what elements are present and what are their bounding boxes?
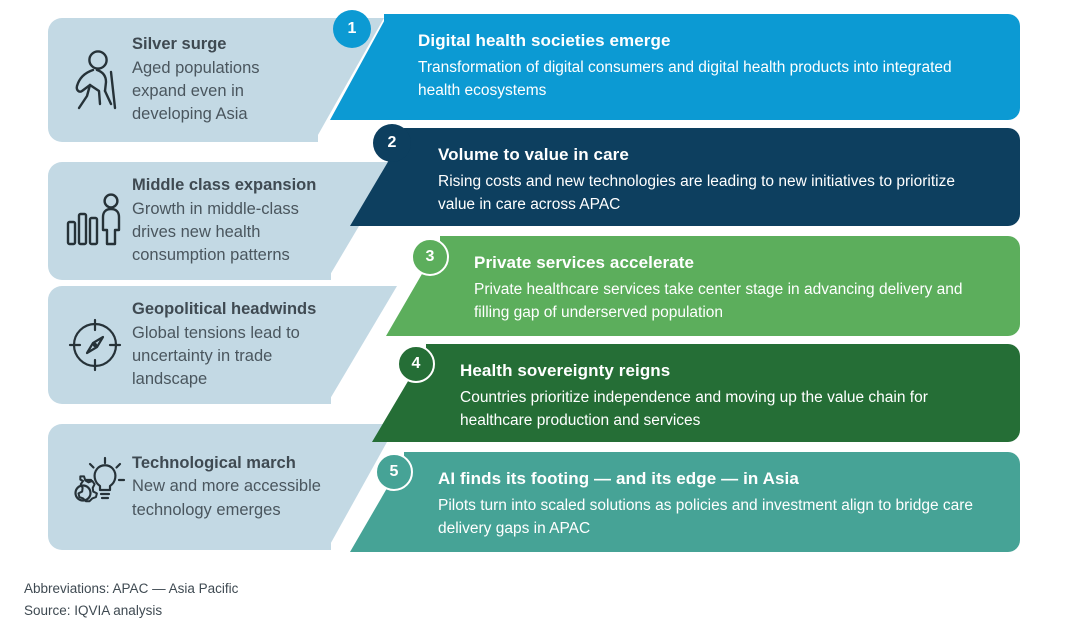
driver-text-block: Middle class expansion Growth in middle-… (128, 174, 331, 268)
driver-text-block: Geopolitical headwinds Global tensions l… (128, 298, 331, 392)
driver-description: Growth in middle-class drives new health… (132, 198, 331, 268)
badge-number: 1 (348, 20, 357, 38)
abbreviations-note: Abbreviations: APAC — Asia Pacific (24, 578, 238, 600)
trend-description: Private healthcare services take center … (474, 278, 994, 325)
driver-card-middle-class-expansion: Middle class expansion Growth in middle-… (48, 162, 331, 280)
driver-text-block: Technological march New and more accessi… (128, 452, 331, 522)
trend-description: Rising costs and new technologies are le… (438, 170, 994, 217)
driver-title: Geopolitical headwinds (132, 298, 331, 321)
banner-text-block: Digital health societies emerge Transfor… (384, 14, 1020, 117)
trend-number-badge-1: 1 (333, 10, 371, 48)
driver-text-block: Silver surge Aged populations expand eve… (128, 33, 318, 127)
source-note: Source: IQVIA analysis (24, 600, 238, 622)
lightbulb-gear-icon (62, 456, 128, 518)
infographic-canvas: Silver surge Aged populations expand eve… (0, 0, 1080, 628)
elderly-person-walking-cane-icon (62, 48, 128, 112)
trend-title: AI finds its footing — and its edge — in… (438, 466, 994, 492)
banner-text-block: Health sovereignty reigns Countries prio… (426, 344, 1020, 447)
driver-card-silver-surge: Silver surge Aged populations expand eve… (48, 18, 318, 142)
trend-title: Volume to value in care (438, 142, 994, 168)
trend-number-badge-3: 3 (411, 238, 449, 276)
trend-banner-digital-health-societies-emerge: Digital health societies emerge Transfor… (384, 14, 1020, 120)
badge-number: 4 (412, 355, 421, 373)
driver-card-technological-march: Technological march New and more accessi… (48, 424, 331, 550)
trend-number-badge-5: 5 (375, 453, 413, 491)
compass-icon (62, 316, 128, 374)
footnotes: Abbreviations: APAC — Asia Pacific Sourc… (24, 578, 238, 622)
bar-chart-person-icon (62, 192, 128, 250)
driver-title: Silver surge (132, 33, 318, 56)
driver-description: New and more accessible technology emerg… (132, 475, 331, 522)
badge-number: 3 (426, 248, 435, 266)
banner-text-block: Volume to value in care Rising costs and… (404, 128, 1020, 231)
trend-description: Pilots turn into scaled solutions as pol… (438, 494, 994, 541)
card-slant-edge (327, 286, 397, 404)
driver-card-geopolitical-headwinds: Geopolitical headwinds Global tensions l… (48, 286, 331, 404)
trend-description: Countries prioritize independence and mo… (460, 386, 994, 433)
trend-banner-private-services-accelerate: Private services accelerate Private heal… (440, 236, 1020, 336)
trend-title: Digital health societies emerge (418, 28, 994, 54)
badge-number: 5 (390, 463, 399, 481)
driver-description: Aged populations expand even in developi… (132, 57, 318, 127)
trend-banner-volume-to-value-in-care: Volume to value in care Rising costs and… (404, 128, 1020, 226)
banner-text-block: AI finds its footing — and its edge — in… (404, 452, 1020, 555)
trend-number-badge-2: 2 (373, 124, 411, 162)
driver-title: Technological march (132, 452, 331, 475)
trend-title: Health sovereignty reigns (460, 358, 994, 384)
trend-number-badge-4: 4 (397, 345, 435, 383)
trend-title: Private services accelerate (474, 250, 994, 276)
trend-banner-health-sovereignty-reigns: Health sovereignty reigns Countries prio… (426, 344, 1020, 442)
driver-title: Middle class expansion (132, 174, 331, 197)
banner-text-block: Private services accelerate Private heal… (440, 236, 1020, 339)
trend-banner-ai-finds-its-footing: AI finds its footing — and its edge — in… (404, 452, 1020, 552)
driver-description: Global tensions lead to uncertainty in t… (132, 322, 331, 392)
trend-description: Transformation of digital consumers and … (418, 56, 994, 103)
badge-number: 2 (388, 134, 397, 152)
